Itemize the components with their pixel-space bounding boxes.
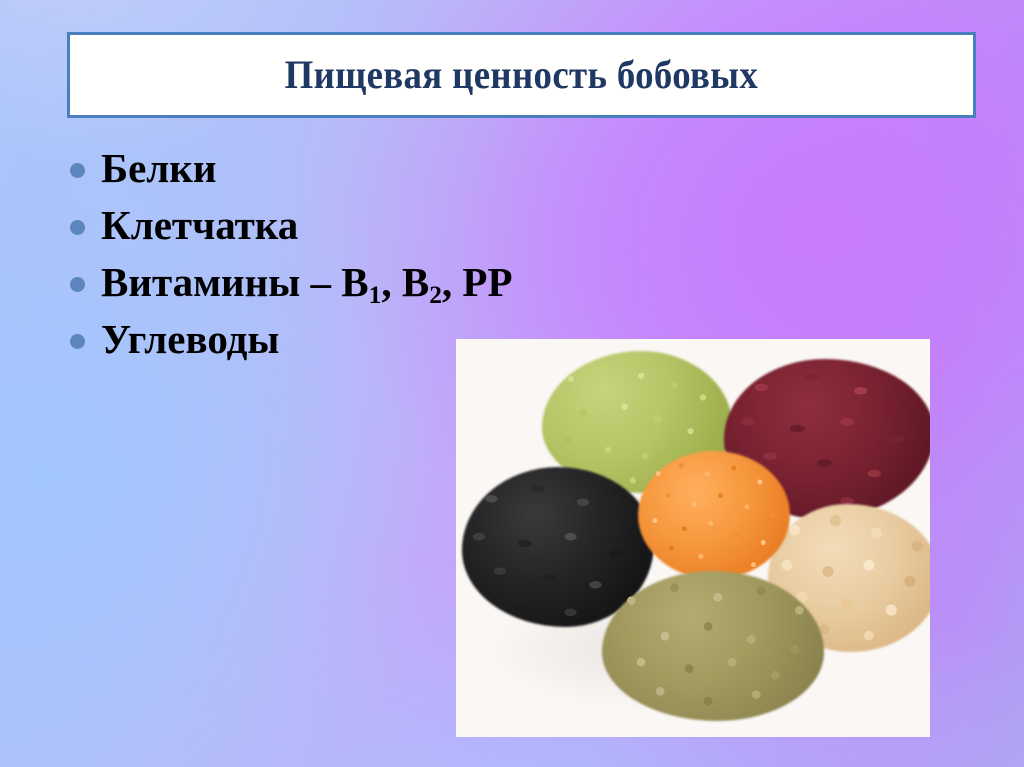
disc-bullet-icon [70, 220, 85, 235]
bullet-label-proteins: Белки [101, 148, 217, 189]
vitamin-b2-subscript: 2 [429, 281, 442, 309]
bullet-label-fiber: Клетчатка [101, 205, 298, 246]
vitamin-b1-subscript: 1 [369, 281, 382, 309]
bullet-label-carbohydrates: Углеводы [101, 319, 279, 360]
vitamins-text-lead: Витамины – В [101, 259, 369, 305]
disc-bullet-icon [70, 163, 85, 178]
brown-lentils-grain [593, 565, 833, 727]
page-title: Пищевая ценность бобовых [285, 55, 759, 95]
legumes-photo [456, 339, 930, 737]
list-item: Белки [70, 143, 630, 193]
nutrition-bullet-list: Белки Клетчатка Витамины – В1, В2, РР Уг… [70, 143, 630, 371]
list-item: Витамины – В1, В2, РР [70, 257, 630, 307]
disc-bullet-icon [70, 277, 85, 292]
disc-bullet-icon [70, 334, 85, 349]
bullet-label-vitamins: Витамины – В1, В2, РР [101, 262, 513, 303]
presentation-slide: Пищевая ценность бобовых Белки Клетчатка… [0, 0, 1024, 767]
list-item: Клетчатка [70, 200, 630, 250]
red-lentils-grain [632, 446, 796, 584]
red-lentils-pile [638, 451, 790, 579]
vitamins-text-tail: , РР [442, 259, 513, 305]
slide-title-box: Пищевая ценность бобовых [67, 32, 976, 118]
vitamins-text-mid: , В [381, 259, 429, 305]
brown-lentils-pile [602, 571, 824, 721]
legumes-photo-content [456, 339, 930, 737]
